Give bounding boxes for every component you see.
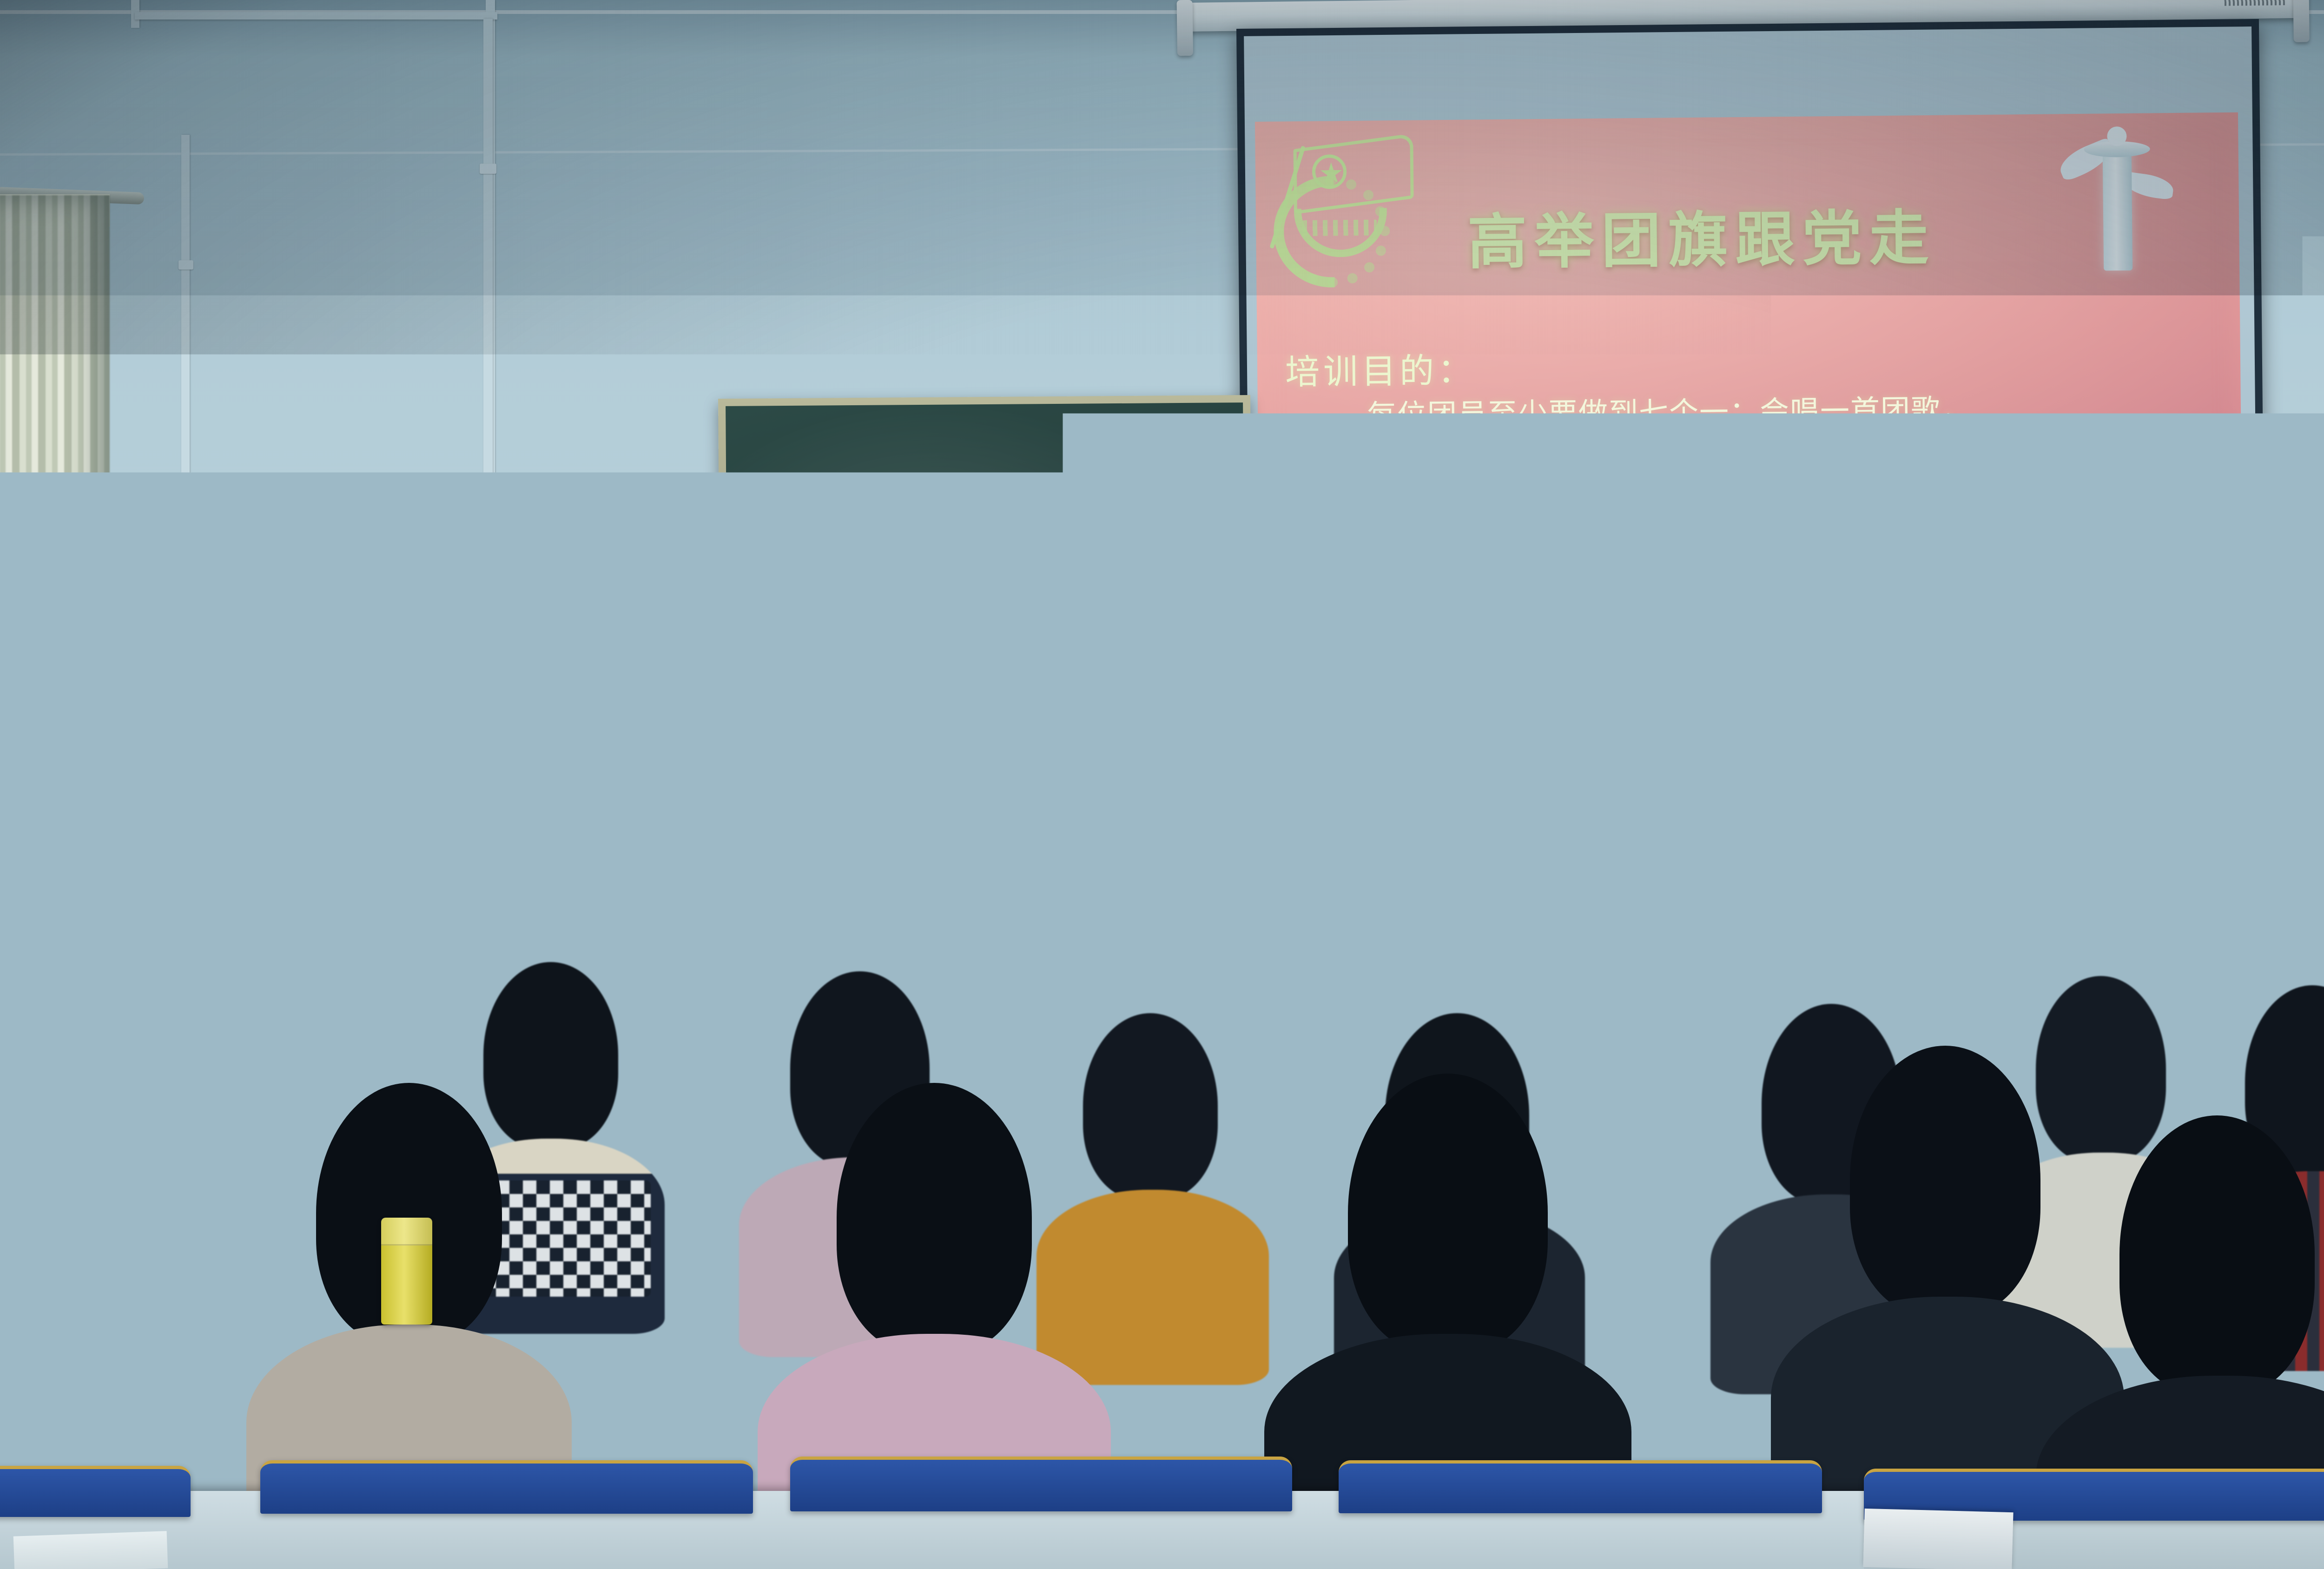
conduit-clamp-3 [178,260,193,270]
presenter-left-body [86,730,272,897]
conduit-vertical-left-3 [483,19,493,600]
slide-body-line-2: 熟学一遍团章，读一本学习资料，写一篇心 [1367,429,2158,478]
camera-cable-left-2 [618,539,660,679]
blackboard-main-text: 新生团校培训班会 [759,490,1245,574]
conduit-clamp-1 [480,164,496,174]
presenter-right-button-1 [456,814,466,824]
front-seat-3[interactable] [790,1457,1292,1511]
presenter-right-button-2 [456,863,466,873]
blackboard: 新生团校培训班会 —2017级生物科学二班 [726,402,1246,782]
presenter-left-bun [136,626,169,655]
conduit-clamp-2 [480,521,496,530]
blackboard-frame: 新生团校培训班会 —2017级生物科学二班 [718,395,1253,789]
jacket-print-text: Loose [1678,1027,1778,1064]
front-seat-1[interactable] [0,1466,191,1517]
slide-body-line-3: 得体会，组织一次主题团日活动，听一场明 [1367,470,2158,520]
presenter-right [316,604,535,930]
slide-body: 每位团员至少要做到七个一：会唱一首团歌， 熟学一遍团章，读一本学习资料，写一篇心… [1367,387,2159,561]
security-camera-left-icon [640,486,729,539]
front-desk-paper [13,1531,168,1569]
slide-title: 高举团旗跟党走 [1467,190,1937,280]
classroom-photo: 高举团旗跟党走 培训目的： 每位团员至少要做到七个一：会唱一首团歌， 熟学一遍团… [0,0,2324,1569]
yellow-thermos [381,1218,432,1325]
conduit-horizontal-left [135,12,497,20]
presenter-left-hand [137,874,179,899]
presenter-left [81,623,277,902]
presenter-right-shirt [410,744,461,892]
communist-youth-league-emblem-icon [1269,138,1424,293]
conduit-vertical-left-4 [181,135,190,609]
slide-body-line-1: 每位团员至少要做到七个一：会唱一首团歌， [1367,387,2158,436]
presenter-left-glasses [127,701,172,708]
front-seat-4[interactable] [1339,1460,1822,1513]
front-book [1863,1509,2013,1569]
slide-subtitle: 培训目的： [1285,343,1476,394]
presenter-right-wristband [477,867,506,877]
roller-brand-label [2225,0,2285,6]
presenter-left-embroidery [223,762,251,785]
huabiao-column-icon [2061,122,2170,272]
projected-slide: 高举团旗跟党走 培训目的： 每位团员至少要做到七个一：会唱一首团歌， 熟学一遍团… [1255,112,2243,682]
cyan-thermos [1622,1011,1665,1120]
presenter-right-glasses [382,663,447,670]
front-seat-2[interactable] [260,1460,753,1514]
emblem-inscription [1302,219,1377,236]
slide-body-line-4: 星事迹报告会，举办一次“共青团之夜” [1368,512,2159,561]
blackboard-sub-text: —2017级生物科学二班 [973,582,1246,636]
